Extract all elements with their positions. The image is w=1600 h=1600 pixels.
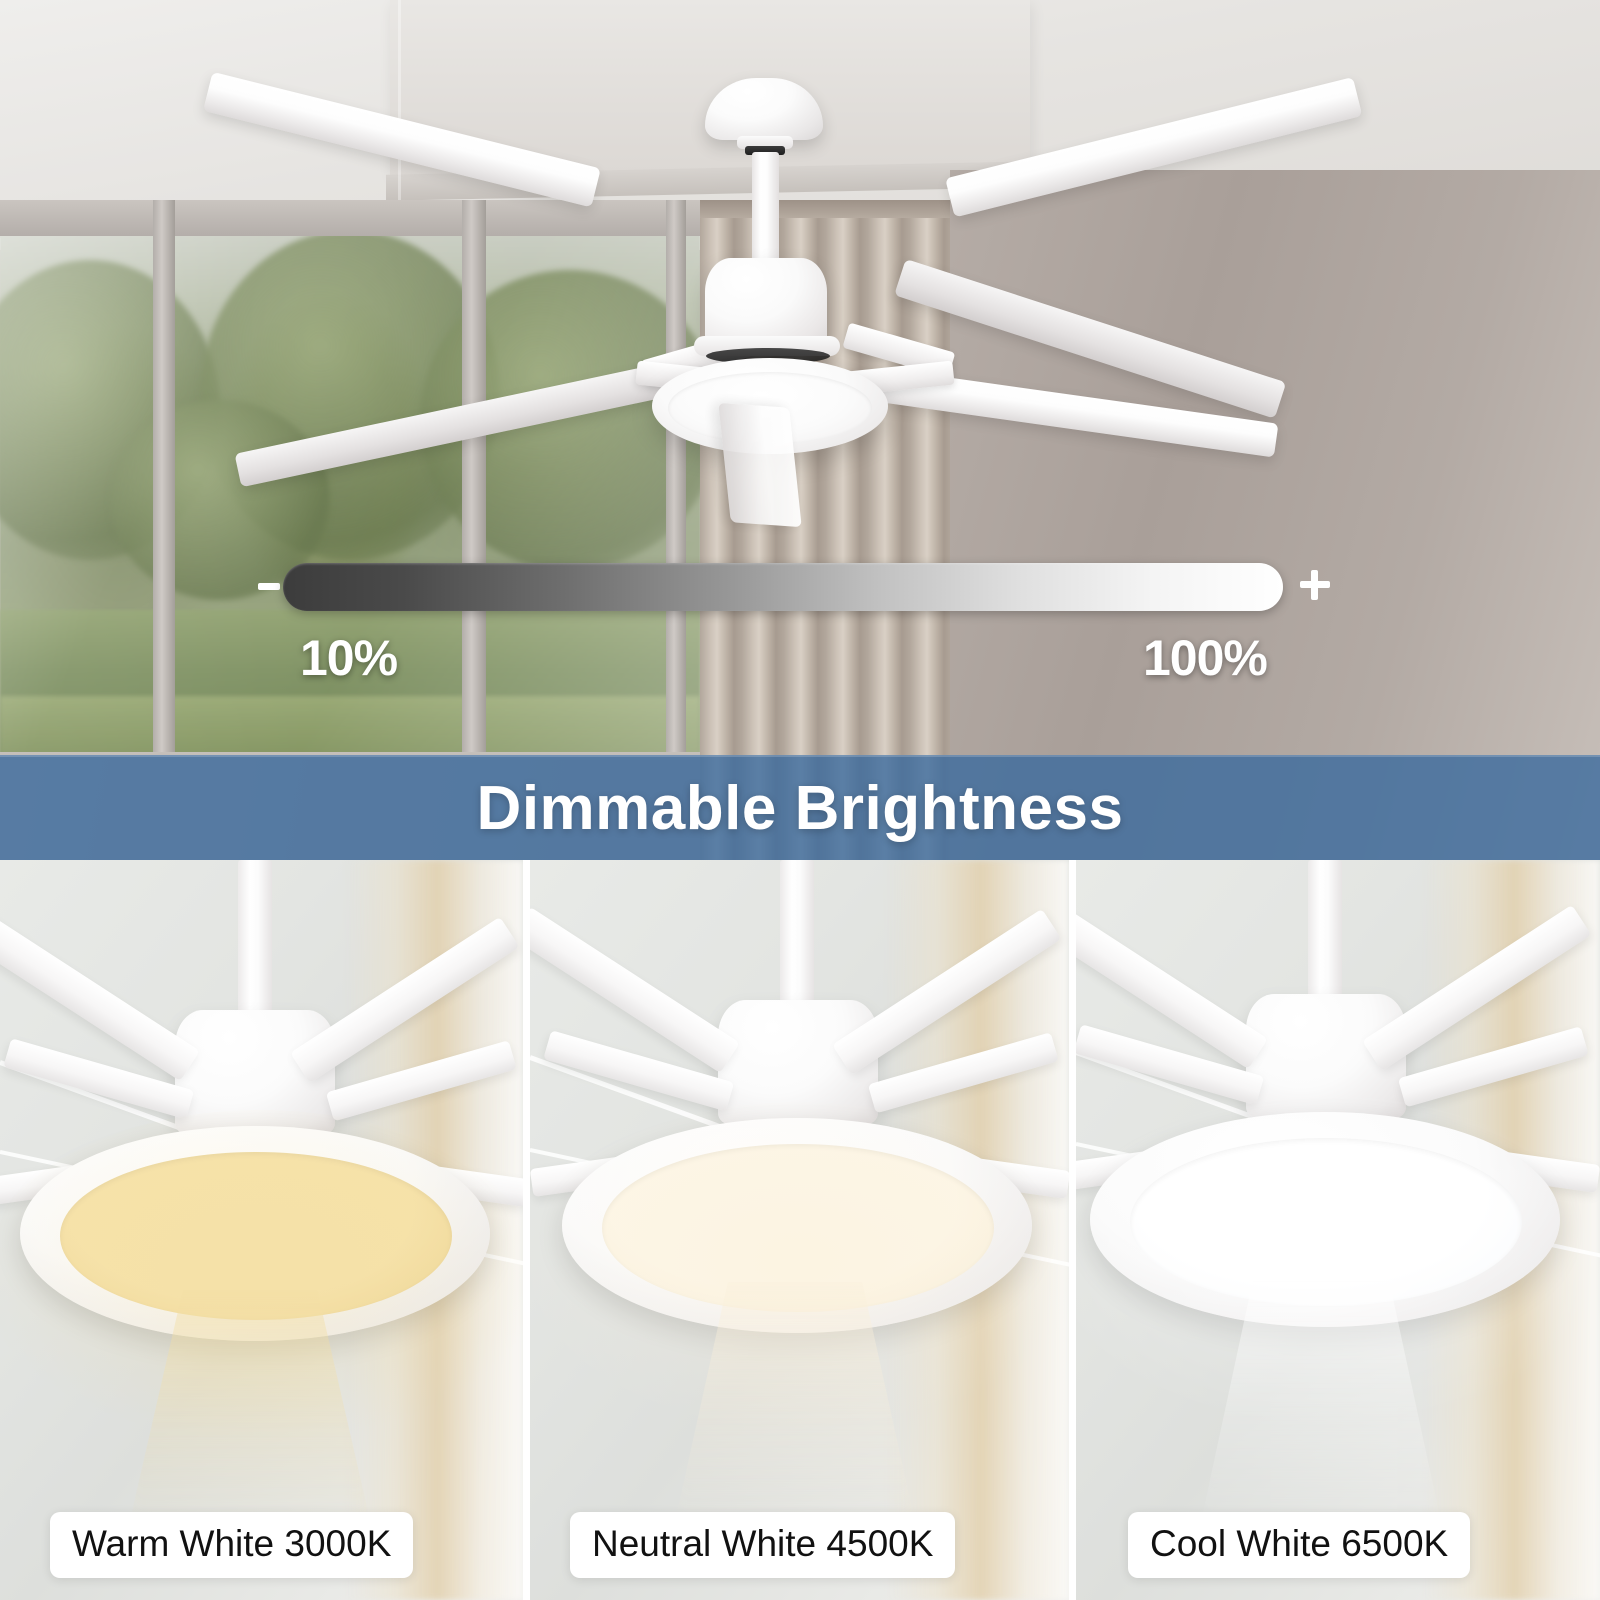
color-temperature-label: Warm White 3000K [50,1512,413,1578]
brightness-slider-track[interactable] [283,563,1283,611]
dimmer-control[interactable]: 10% 100% [0,0,1600,760]
color-temperature-label: Cool White 6500K [1128,1512,1470,1578]
product-feature-image: 10% 100% Dimmable Brightness [0,0,1600,1600]
brightness-max-label: 100% [1143,629,1267,687]
fan-downrod [1308,860,1342,1012]
banner-title: Dimmable Brightness [477,773,1124,844]
plus-icon[interactable] [1300,570,1330,600]
fan-downrod [780,860,814,1018]
minus-icon[interactable] [258,583,280,590]
color-temperature-label: Neutral White 4500K [570,1512,955,1578]
fan-downrod [238,860,272,1030]
room-scene: 10% 100% Dimmable Brightness [0,0,1600,860]
brightness-min-label: 10% [300,629,397,687]
color-temperature-gallery: Warm White 3000K Neutral White 4500K [0,860,1600,1600]
color-temperature-panel-cool-white: Cool White 6500K [1069,860,1600,1600]
color-temperature-panel-neutral-white: Neutral White 4500K [523,860,1069,1600]
feature-banner: Dimmable Brightness [0,755,1600,860]
color-temperature-panel-warm-white: Warm White 3000K [0,860,523,1600]
